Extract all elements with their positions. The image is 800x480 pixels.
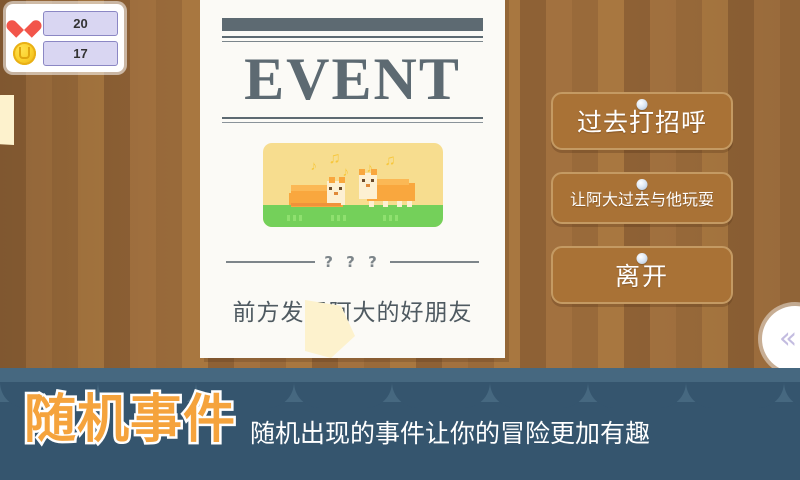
paper-flap-left bbox=[0, 95, 14, 145]
health-stat-row: 20 bbox=[12, 10, 118, 36]
choice-button-leave[interactable]: 离开 bbox=[551, 246, 733, 304]
banner-subtitle: 随机出现的事件让你的冒险更加有趣 bbox=[250, 414, 650, 450]
card-rule-thin-top bbox=[222, 36, 483, 38]
card-rule-thin-top2 bbox=[222, 41, 483, 42]
event-illustration: ♪ ♫ ♪ ♪ ♫ bbox=[263, 143, 443, 227]
game-screen: 20 17 EVENT bbox=[0, 0, 800, 480]
player-stats-panel: 20 17 bbox=[6, 4, 124, 72]
coin-stat-row: 17 bbox=[12, 40, 118, 66]
chevron-double-left-icon: « bbox=[779, 324, 797, 354]
question-marks: ? ? ? bbox=[324, 253, 381, 271]
heart-icon bbox=[12, 11, 36, 35]
choice-button-group: 过去打招呼 让阿大过去与他玩耍 离开 bbox=[551, 92, 733, 326]
pin-icon bbox=[637, 99, 648, 110]
coin-icon bbox=[12, 41, 36, 65]
choice-button-play[interactable]: 让阿大过去与他玩耍 bbox=[551, 172, 733, 224]
card-rule-thick bbox=[222, 18, 483, 31]
event-card: EVENT ♪ ♫ ♪ ♪ ♫ bbox=[200, 0, 505, 358]
music-note-icon: ♫ bbox=[329, 151, 341, 167]
music-note-icon: ♪ bbox=[311, 159, 318, 172]
event-description: 前方发现阿大的好朋友 bbox=[222, 293, 483, 327]
event-title: EVENT bbox=[222, 48, 483, 111]
pin-icon bbox=[637, 179, 648, 190]
pin-icon bbox=[637, 253, 648, 264]
choice-button-greet[interactable]: 过去打招呼 bbox=[551, 92, 733, 150]
health-value: 20 bbox=[43, 11, 118, 36]
banner-title: 随机事件 bbox=[24, 394, 236, 446]
card-question-divider: ? ? ? bbox=[226, 253, 479, 271]
card-rules-bottom bbox=[222, 117, 483, 123]
feature-banner: 随机事件 随机出现的事件让你的冒险更加有趣 bbox=[0, 368, 800, 480]
coin-value: 17 bbox=[43, 41, 118, 66]
music-note-icon: ♫ bbox=[385, 153, 396, 168]
